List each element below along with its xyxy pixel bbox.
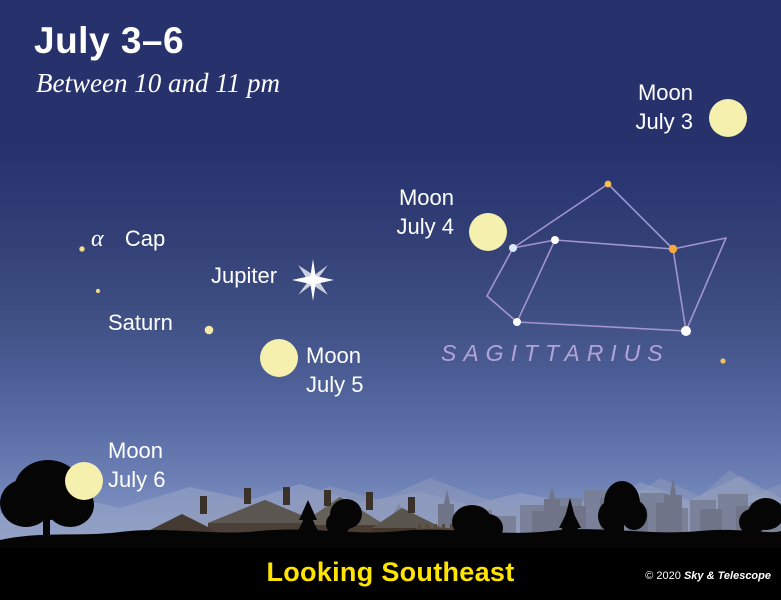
moon-july-6-label-line2: July 6 [108,465,165,494]
moon-july-6-label: Moon July 6 [108,436,165,495]
moon-july-6-label-line1: Moon [108,436,165,465]
sky-chart-figure: July 3–6 Between 10 and 11 pm SAGITTARIU… [0,0,781,600]
footer-bar: Looking Southeast © 2020 Sky & Telescope [0,548,781,600]
title-block: July 3–6 Between 10 and 11 pm [34,22,280,99]
copyright-mark: © 2020 [645,570,684,582]
page-subtitle: Between 10 and 11 pm [36,69,280,99]
copyright-brand: Sky & Telescope [684,570,771,582]
moon-july-6 [65,462,103,500]
copyright-notice: © 2020 Sky & Telescope [645,570,771,582]
page-title: July 3–6 [34,22,280,61]
